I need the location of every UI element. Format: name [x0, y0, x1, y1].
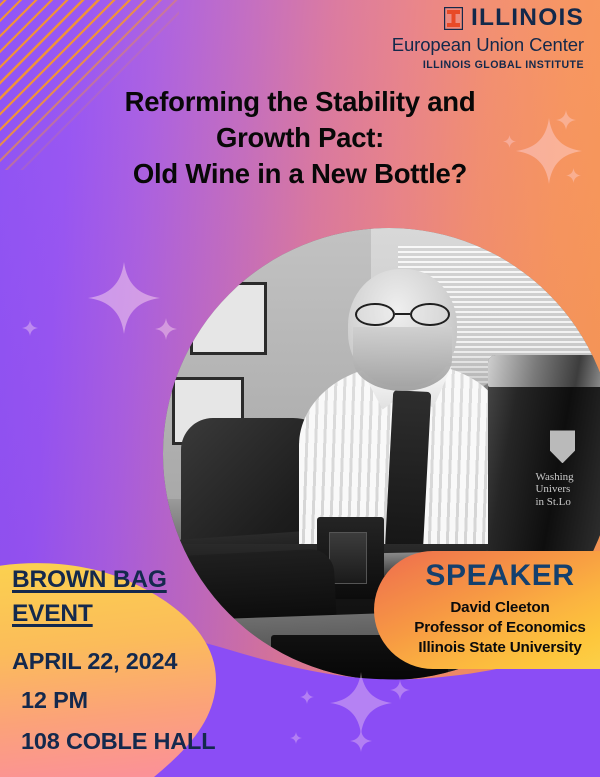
logo-unit-name: European Union Center [392, 33, 584, 56]
speaker-affiliation: Illinois State University [400, 638, 600, 658]
event-details: BROWN BAG EVENT APRIL 22, 2024 12 PM 108… [12, 563, 278, 755]
university-crest-icon [550, 430, 576, 463]
speaker-role: Professor of Economics [400, 618, 600, 638]
title-line-2: Growth Pact: [28, 120, 572, 156]
title-line-1: Reforming the Stability and [28, 84, 572, 120]
logo-row: ILLINOIS [392, 6, 584, 31]
illinois-block-i-icon [444, 7, 463, 30]
tumbler-text-line-3: in St.Lo [535, 496, 570, 508]
event-kicker-line-1: BROWN BAG [12, 566, 167, 593]
poster-title: Reforming the Stability and Growth Pact:… [0, 84, 600, 191]
event-date: APRIL 22, 2024 [12, 648, 278, 675]
logo-institute-name: ILLINOIS GLOBAL INSTITUTE [392, 59, 584, 71]
tumbler-text-line-2: Univers [535, 483, 570, 495]
speaker-label: SPEAKER [400, 560, 600, 592]
sparkle-large-left-icon [88, 262, 160, 334]
event-poster: ILLINOIS European Union Center ILLINOIS … [0, 0, 600, 777]
wall-frame-icon [190, 282, 267, 354]
illinois-wordmark: ILLINOIS [471, 6, 584, 31]
title-line-3: Old Wine in a New Bottle? [28, 156, 572, 192]
tumbler-text-line-1: Washing [535, 471, 573, 483]
event-kicker-line-2: EVENT [12, 600, 93, 627]
speaker-name: David Cleeton [400, 598, 600, 618]
illinois-logo-lockup: ILLINOIS European Union Center ILLINOIS … [392, 6, 584, 71]
sparkle-tiny-left-icon [22, 320, 38, 336]
event-location: 108 COBLE HALL [21, 728, 278, 755]
speaker-panel: SPEAKER David Cleeton Professor of Econo… [374, 551, 600, 669]
event-time: 12 PM [21, 687, 278, 714]
eyeglasses-icon [355, 303, 450, 327]
event-kicker: BROWN BAG EVENT [12, 563, 278, 631]
